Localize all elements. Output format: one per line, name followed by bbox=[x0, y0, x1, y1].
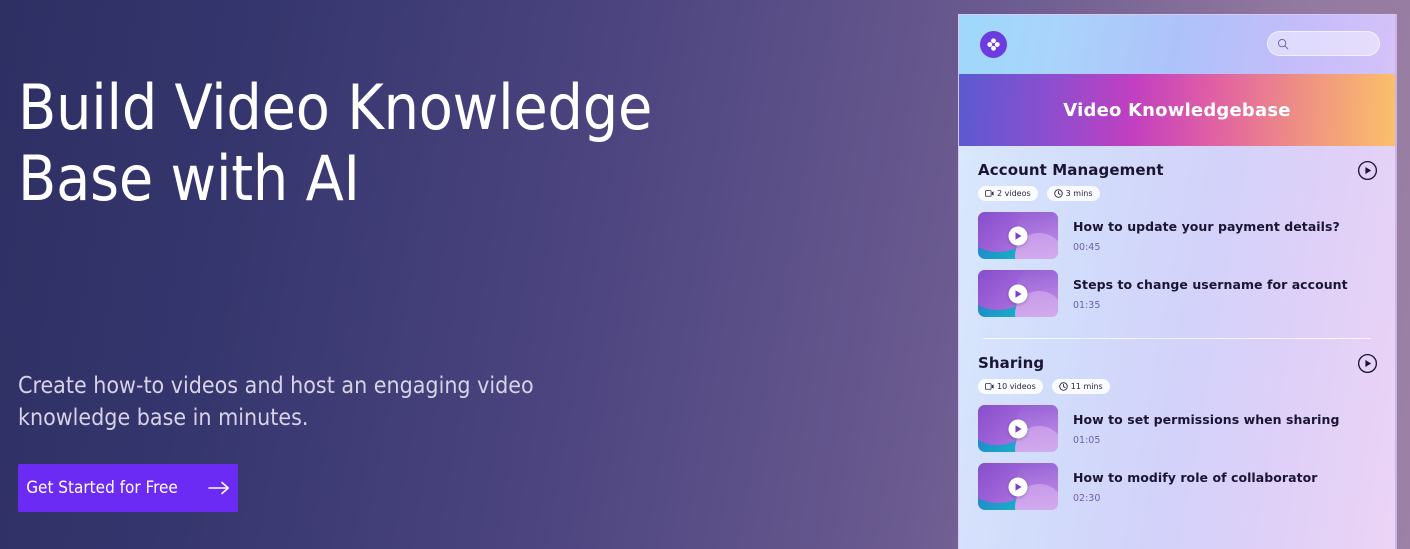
videos-count-label: 2 videos bbox=[997, 189, 1031, 198]
duration-label: 3 mins bbox=[1066, 189, 1093, 198]
duration-label: 11 mins bbox=[1071, 382, 1103, 391]
four-petal-clover-logo-icon[interactable] bbox=[980, 31, 1007, 58]
list-item[interactable]: How to update your payment details? 00:4… bbox=[978, 212, 1376, 259]
search-icon bbox=[1277, 38, 1289, 50]
video-title: How to modify role of collaborator bbox=[1073, 470, 1317, 485]
section-sharing: Sharing 10 v bbox=[959, 339, 1395, 527]
video-meta: Steps to change username for account 01:… bbox=[1073, 277, 1348, 311]
video-icon bbox=[985, 190, 994, 197]
banner-title: Video Knowledgebase bbox=[1063, 100, 1290, 121]
section-badges: 2 videos 3 mins bbox=[978, 186, 1376, 201]
list-item[interactable]: How to modify role of collaborator 02:30 bbox=[978, 463, 1376, 510]
section-title: Sharing bbox=[978, 354, 1376, 372]
get-started-label: Get Started for Free bbox=[26, 478, 178, 498]
search-input[interactable] bbox=[1267, 31, 1380, 56]
video-list: How to update your payment details? 00:4… bbox=[978, 212, 1376, 317]
video-thumbnail[interactable] bbox=[978, 212, 1058, 259]
video-list: How to set permissions when sharing 01:0… bbox=[978, 405, 1376, 510]
page-title: Build Video Knowledge Base with AI bbox=[18, 72, 778, 214]
play-circle-icon[interactable] bbox=[1357, 160, 1378, 181]
play-icon[interactable] bbox=[1009, 284, 1028, 303]
video-thumbnail[interactable] bbox=[978, 463, 1058, 510]
video-duration: 00:45 bbox=[1073, 242, 1340, 253]
video-thumbnail[interactable] bbox=[978, 405, 1058, 452]
hero-subtext: Create how-to videos and host an engagin… bbox=[18, 370, 578, 434]
hero-section: Build Video Knowledge Base with AI Creat… bbox=[18, 0, 918, 549]
videos-count-label: 10 videos bbox=[997, 382, 1036, 391]
video-thumbnail[interactable] bbox=[978, 270, 1058, 317]
section-header: Sharing 10 v bbox=[978, 354, 1376, 394]
list-item[interactable]: Steps to change username for account 01:… bbox=[978, 270, 1376, 317]
list-item[interactable]: How to set permissions when sharing 01:0… bbox=[978, 405, 1376, 452]
clock-icon bbox=[1054, 189, 1063, 198]
play-icon[interactable] bbox=[1009, 419, 1028, 438]
app-preview-card: Video Knowledgebase Account Management bbox=[958, 14, 1397, 549]
play-icon[interactable] bbox=[1009, 477, 1028, 496]
video-meta: How to update your payment details? 00:4… bbox=[1073, 219, 1340, 253]
videos-count-badge: 2 videos bbox=[978, 186, 1038, 201]
app-topbar bbox=[959, 15, 1395, 74]
video-duration: 01:05 bbox=[1073, 435, 1339, 446]
app-banner: Video Knowledgebase bbox=[959, 74, 1395, 146]
play-circle-icon[interactable] bbox=[1357, 353, 1378, 374]
section-header: Account Management bbox=[978, 161, 1376, 201]
duration-badge: 11 mins bbox=[1052, 379, 1110, 394]
duration-badge: 3 mins bbox=[1047, 186, 1100, 201]
video-duration: 01:35 bbox=[1073, 300, 1348, 311]
section-title: Account Management bbox=[978, 161, 1376, 179]
video-meta: How to set permissions when sharing 01:0… bbox=[1073, 412, 1339, 446]
section-badges: 10 videos 11 mins bbox=[978, 379, 1376, 394]
section-account-management: Account Management bbox=[959, 146, 1395, 334]
videos-count-badge: 10 videos bbox=[978, 379, 1043, 394]
video-title: How to set permissions when sharing bbox=[1073, 412, 1339, 427]
clock-icon bbox=[1059, 382, 1068, 391]
video-title: Steps to change username for account bbox=[1073, 277, 1348, 292]
video-meta: How to modify role of collaborator 02:30 bbox=[1073, 470, 1317, 504]
app-body: Account Management bbox=[959, 146, 1395, 527]
video-icon bbox=[985, 383, 994, 390]
get-started-button[interactable]: Get Started for Free bbox=[18, 464, 238, 512]
video-title: How to update your payment details? bbox=[1073, 219, 1340, 234]
video-duration: 02:30 bbox=[1073, 493, 1317, 504]
play-icon[interactable] bbox=[1009, 226, 1028, 245]
arrow-right-icon bbox=[208, 481, 230, 495]
